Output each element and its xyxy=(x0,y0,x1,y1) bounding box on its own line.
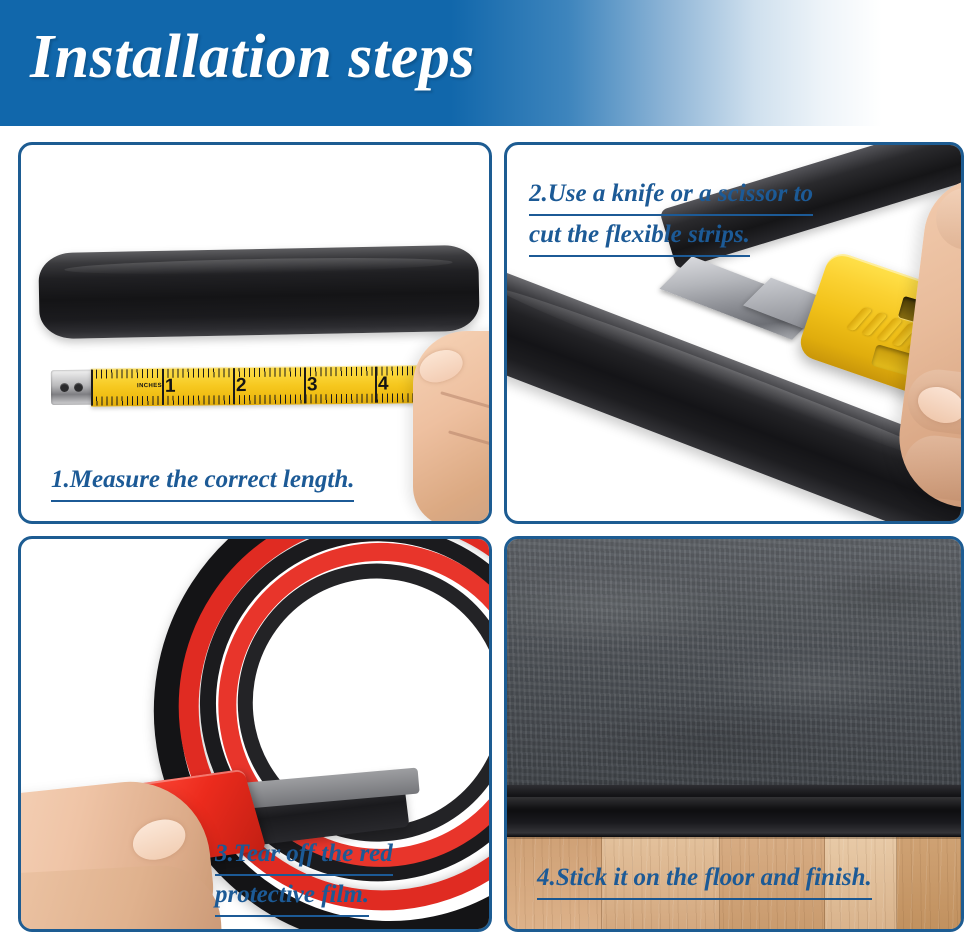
caption-line: cut the flexible strips. xyxy=(529,216,750,257)
step-panel-2: 2.Use a knife or a scissor to cut the fl… xyxy=(504,142,964,524)
tape-hook xyxy=(51,370,93,405)
tape-measure: INCHES 1 2 3 4 5 xyxy=(51,365,451,407)
step-panel-4: 4.Stick it on the floor and finish. xyxy=(504,536,964,932)
wall-texture xyxy=(507,539,961,789)
caption-line: protective film. xyxy=(215,876,369,917)
installed-baseboard-strip xyxy=(507,785,961,838)
caption-line: 4.Stick it on the floor and finish. xyxy=(537,859,872,900)
page-title: Installation steps xyxy=(30,14,475,100)
caption-line: 1.Measure the correct length. xyxy=(51,461,354,502)
tape-unit-label: INCHES xyxy=(137,383,162,389)
tape-number-3: 3 xyxy=(307,375,318,394)
step-panel-1: INCHES 1 2 3 4 5 1.Measure the correct l… xyxy=(18,142,492,524)
floor-seam xyxy=(507,837,961,839)
finger xyxy=(933,184,961,261)
step-panel-3: 3.Tear off the red protective film. xyxy=(18,536,492,932)
tape-band: INCHES 1 2 3 4 5 xyxy=(91,365,451,407)
strip-highlight xyxy=(65,256,452,277)
finger-crease xyxy=(440,391,489,418)
wall-surface xyxy=(507,539,961,789)
caption-line: 3.Tear off the red xyxy=(215,835,393,876)
baseboard-highlight xyxy=(507,797,961,811)
tape-number-4: 4 xyxy=(378,375,389,394)
steps-grid: INCHES 1 2 3 4 5 1.Measure the correct l… xyxy=(0,128,980,940)
tape-number-1: 1 xyxy=(165,377,176,396)
hand xyxy=(413,331,489,521)
header-banner: Installation steps xyxy=(0,0,980,126)
fingernail xyxy=(415,344,467,387)
finger-crease xyxy=(448,430,489,454)
caption-line: 2.Use a knife or a scissor to xyxy=(529,175,813,216)
step-1-caption: 1.Measure the correct length. xyxy=(51,461,354,502)
tape-number-2: 2 xyxy=(236,376,247,395)
flexible-strip xyxy=(38,245,480,339)
step-2-caption: 2.Use a knife or a scissor to cut the fl… xyxy=(529,175,813,257)
step-4-caption: 4.Stick it on the floor and finish. xyxy=(537,859,872,900)
fingernail xyxy=(127,813,191,867)
step-3-caption: 3.Tear off the red protective film. xyxy=(215,835,393,917)
